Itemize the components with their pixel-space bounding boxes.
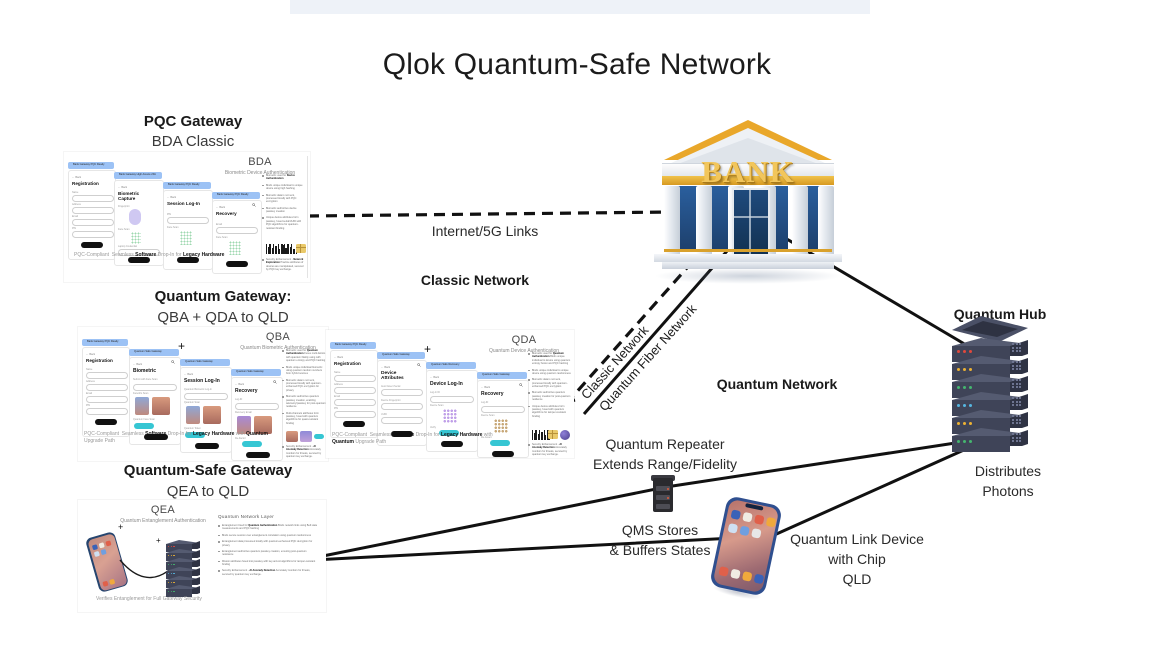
- field-label: Log-In ID: [430, 391, 440, 394]
- field-label: Log-ID: [235, 398, 242, 401]
- qba-gallery-button[interactable]: [314, 434, 324, 439]
- panel-title: Device Attributes: [381, 371, 409, 382]
- panel-pill-registration[interactable]: Bank Gateway PQC Ready: [82, 339, 128, 346]
- field-label: Quantum Scan: [184, 401, 200, 404]
- bullet-item: Biometric authorizes quantum passkey cre…: [532, 391, 572, 401]
- field-input[interactable]: [334, 375, 376, 382]
- bullet-item: Mission attributes fused into passkey wi…: [222, 560, 318, 567]
- label-qms-line2: & Buffers States: [592, 542, 728, 560]
- face-thumb: [186, 406, 200, 424]
- field-label: Face Scan: [167, 226, 178, 229]
- bullet-item: Biometric data is not sent, processed lo…: [532, 378, 572, 388]
- field-input[interactable]: [235, 403, 279, 410]
- card-qba-bullets: Biometric used for Quantum Authenticatio…: [286, 349, 326, 428]
- search-icon: [519, 374, 523, 378]
- field-label: PIN: [72, 227, 76, 230]
- phone-app-icon: [739, 526, 750, 537]
- card-qea-screenshot[interactable]: QEA Quantum Entanglement Authentication …: [78, 500, 326, 612]
- wire-classic-horizontal: [308, 212, 672, 216]
- bank-column-5: [792, 186, 808, 256]
- repeater-slot-3: [656, 504, 670, 509]
- panel-title: Recovery: [235, 388, 258, 394]
- panel-recovery[interactable]: Recovery ← Back Email Face Scan: [212, 200, 262, 274]
- qea-phone-app-icon: [98, 542, 104, 548]
- bullet-item: Biometric used for Quantum Authenticatio…: [532, 352, 572, 366]
- hub-leds-blue: [957, 404, 972, 407]
- bullet-item: Unique device attributes form passkey, f…: [532, 405, 572, 419]
- plus-icon: +: [424, 342, 431, 356]
- phone-app-icon: [766, 517, 777, 528]
- panel-back-link[interactable]: ← Back: [216, 206, 225, 209]
- security-note: Security Enhancement - AI Anomaly Detect…: [286, 445, 326, 459]
- submit-button[interactable]: [95, 419, 117, 425]
- plus-icon: +: [178, 339, 185, 353]
- field-label: Address: [334, 383, 343, 386]
- card-qea-footer: Verifies Entanglement for Full Gateway S…: [84, 596, 214, 603]
- pill-text: Bank Gateway PQC Ready: [168, 183, 199, 186]
- panel-pill-biometric[interactable]: Quantum Safe Gateway: [129, 349, 179, 356]
- panel-title: Device Log-In: [430, 381, 463, 387]
- submit-button[interactable]: [343, 421, 365, 427]
- bullet-item: Entanglement data processed locally with…: [222, 540, 318, 547]
- bullet-item: Binds unique individual biometric using …: [286, 366, 326, 376]
- card-qba-heading-block: QBA Quantum Biometric Authentication: [230, 331, 326, 351]
- field-input[interactable]: [86, 384, 128, 391]
- field-input[interactable]: [381, 389, 423, 396]
- plus-icon: +: [118, 522, 123, 532]
- field-input[interactable]: [72, 207, 114, 214]
- field-input[interactable]: [86, 372, 128, 379]
- bullet-item: Biometric authorizes device passkey crea…: [266, 207, 306, 214]
- bullet-item: Binds unique individual to unique device…: [532, 369, 572, 376]
- field-label: Device Scan: [430, 404, 443, 407]
- card-qba-screenshot[interactable]: QBA Quantum Biometric Authentication + R…: [78, 327, 328, 461]
- panel-registration[interactable]: Registration ← Back Name Address Email P…: [82, 347, 130, 437]
- field-label: Quantum Biometric Log-In: [184, 388, 212, 391]
- card-qea-bullets: Entanglement Used for Quantum Authentica…: [222, 524, 318, 579]
- qea-phone-app-icon: [100, 549, 106, 555]
- phone-app-icon: [730, 509, 741, 520]
- panel-back-link[interactable]: ← Back: [235, 383, 244, 386]
- bank-building[interactable]: BANK: [648, 118, 848, 283]
- panel-title: Recovery: [481, 391, 504, 397]
- label-repeater-line2: Extends Range/Fidelity: [560, 456, 770, 474]
- panel-title: Session Log-In: [184, 378, 220, 384]
- panel-registration[interactable]: Registration ← Back Name Address Email P…: [330, 350, 378, 438]
- label-internet-5g-links: Internet/5G Links: [385, 223, 585, 241]
- panel-pill-device-login[interactable]: Quantum Safe Recovery: [426, 362, 476, 369]
- field-label: PIN: [167, 213, 171, 216]
- face-thumb: [203, 406, 221, 424]
- hub-vents: [1012, 433, 1021, 442]
- sim-chip-icon: [296, 244, 306, 253]
- bullet-item: Security Enhancement - AI Anomaly Detect…: [222, 569, 318, 576]
- field-input[interactable]: [72, 231, 114, 238]
- field-label: PIN: [334, 407, 338, 410]
- label-quantum-network: Quantum Network: [677, 376, 877, 394]
- hub-leds-orange: [957, 422, 972, 425]
- section-subtitle-quantum-safe-gateway: QEA to QLD: [78, 483, 338, 502]
- field-input[interactable]: [184, 393, 228, 400]
- card-qda-footer: PQC-Compliant Seamless Software Drop-In …: [332, 432, 512, 447]
- label-qld-line2: with Chip: [772, 551, 942, 569]
- label-hub-caption-line1: Distributes: [908, 463, 1108, 481]
- face-scan-glyph: [131, 232, 141, 244]
- barcode-icon-2: [284, 244, 297, 254]
- quantum-repeater-device[interactable]: [651, 478, 677, 514]
- field-input[interactable]: [72, 195, 114, 202]
- panel-title: Recovery: [216, 211, 237, 216]
- field-label: Device Scan: [481, 414, 494, 417]
- panel-title: Session Log-In: [167, 201, 200, 206]
- panel-back-link[interactable]: ← Back: [430, 376, 439, 379]
- pill-text: Bank Gateway PQC Ready: [73, 163, 104, 166]
- card-bda-footer: PQC-Compliant Seamless Software Drop-In …: [74, 252, 244, 259]
- field-label: Laptop Credential: [118, 245, 137, 248]
- bank-base-gold-line: [664, 249, 832, 252]
- pill-text: Bank Gateway PQC Ready: [87, 340, 118, 343]
- card-qda-heading-block: QDA Quantum Device Authentication: [476, 334, 572, 354]
- phone-screen: [713, 499, 780, 594]
- phone-app-icon: [754, 514, 765, 525]
- qba-gallery-thumb: [286, 431, 298, 442]
- hub-leds-red: [957, 350, 972, 353]
- qba-gallery-thumb: [300, 431, 312, 442]
- card-qea-heading: QEA: [98, 504, 228, 516]
- field-label: Address: [72, 203, 81, 206]
- qea-phone-app-icon: [91, 544, 97, 550]
- field-input[interactable]: [86, 396, 128, 403]
- device-scan-glyph: [443, 409, 457, 423]
- top-tint-strip: [290, 0, 870, 14]
- bullet-item: Biometric data is not sent, processed lo…: [286, 379, 326, 393]
- label-qld-line3: QLD: [772, 571, 942, 589]
- card-bda-bullets: Biometric used for Device Authentication…: [266, 174, 306, 233]
- panel-pill-session[interactable]: Bank Gateway PQC Ready: [163, 182, 211, 189]
- field-label: UUID: [381, 413, 387, 416]
- hub-leds-yellow: [957, 368, 972, 371]
- panel-registration[interactable]: Registration ← Back Name Address Email P…: [68, 170, 116, 260]
- field-input[interactable]: [167, 217, 209, 224]
- bullet-item: Unique device attributes form passkey, f…: [266, 216, 306, 230]
- field-label: Address: [86, 380, 95, 383]
- hub-unit-6: [952, 428, 1028, 454]
- field-input[interactable]: [481, 406, 525, 413]
- field-label: Quantum Token: [184, 427, 201, 430]
- hub-vents: [1012, 397, 1021, 406]
- field-label: Face Scan: [118, 228, 129, 231]
- bank-column-2: [696, 186, 712, 256]
- bank-sign-text: BANK: [648, 154, 848, 190]
- panel-back-link[interactable]: ← Back: [381, 366, 390, 369]
- phone-app-icon: [718, 566, 729, 577]
- field-input[interactable]: [86, 408, 128, 415]
- pill-text: Bank Gateway PQC Ready: [217, 193, 248, 196]
- page-title: Qlok Quantum-Safe Network: [0, 48, 1154, 82]
- panel-pill-biometric[interactable]: Bank Gateway High Assure 2FA: [114, 172, 162, 179]
- panel-title: Registration: [86, 358, 113, 363]
- pill-text: Quantum Safe Gateway: [482, 373, 510, 376]
- field-label: Email: [334, 395, 340, 398]
- card-bda-screenshot[interactable]: BDA Biometric Device Authentication Regi…: [64, 152, 310, 282]
- section-subtitle-pqc: BDA Classic: [93, 133, 293, 152]
- sim-chip-icon: [548, 430, 558, 439]
- card-qba-heading: QBA: [230, 331, 326, 343]
- card-divider: [307, 156, 308, 278]
- panel-title: Registration: [72, 181, 99, 186]
- pill-text: Quantum Safe Gateway: [134, 350, 162, 353]
- phone-app-icon: [754, 574, 765, 585]
- field-label: Face/Iris Scan: [133, 392, 148, 395]
- phone-app-icon: [751, 528, 762, 539]
- card-bda-heading: BDA: [214, 156, 306, 168]
- bullet-item: Entanglement authorizes quantum passkey …: [222, 550, 318, 557]
- field-input[interactable]: [216, 227, 258, 234]
- hub-unit-face: [952, 436, 1010, 452]
- bullet-item: Biometric used for Quantum Authenticatio…: [286, 349, 326, 363]
- bullet-item: Biometric authorizes quantum passkey cre…: [286, 395, 326, 409]
- phone-app-icon: [742, 512, 753, 523]
- field-input[interactable]: [334, 411, 376, 418]
- search-icon: [171, 351, 175, 355]
- section-title-quantum-safe-gateway: Quantum-Safe Gateway: [78, 462, 338, 481]
- bullet-item: Entanglement Used for Quantum Authentica…: [222, 524, 318, 531]
- card-qda-security-note: Security Enhancement - AI Anomaly Detect…: [532, 443, 572, 458]
- field-label: Recovery Email: [235, 411, 252, 414]
- phone-app-icon: [728, 523, 739, 534]
- panel-recovery[interactable]: Recovery ← Back Log-ID Recovery Email Re…: [231, 377, 283, 461]
- field-label: Submit with Face Scan: [133, 378, 157, 381]
- bank-door-mullion-h: [734, 216, 768, 218]
- pill-text: Quantum Safe Gateway: [185, 360, 213, 363]
- field-input[interactable]: [381, 417, 423, 424]
- phone-app-icon: [742, 571, 753, 582]
- field-label: Face Scan: [216, 236, 227, 239]
- panel-pill-device-attributes[interactable]: Quantum Safe Gateway: [377, 352, 425, 359]
- field-input[interactable]: [334, 399, 376, 406]
- face-thumb: [152, 397, 170, 415]
- field-label: Fingerprint: [118, 205, 129, 208]
- section-title-pqc: PQC Gateway: [93, 113, 293, 132]
- field-label: Verify: [430, 426, 436, 429]
- face-thumb: [135, 397, 149, 415]
- pill-text: Bank Gateway PQC Ready: [335, 343, 366, 346]
- bank-glass-midleft: [710, 186, 730, 252]
- bank-shadow: [654, 268, 842, 284]
- card-qba-security-note: Security Enhancement - AI Anomaly Detect…: [286, 445, 326, 461]
- bullet-item: Biometric data is not sent, processed lo…: [266, 194, 306, 204]
- field-label: Name: [86, 368, 92, 371]
- bullet-item: Binds secure session over entanglement c…: [222, 534, 318, 537]
- field-label: Name: [334, 371, 340, 374]
- pill-text: Quantum Safe Recovery: [431, 363, 459, 366]
- card-qea-right-title: Quantum Network Layer: [218, 514, 274, 519]
- panel-back-link[interactable]: ← Back: [118, 186, 127, 189]
- card-bda-heading-block: BDA Biometric Device Authentication: [214, 156, 306, 176]
- field-input[interactable]: [334, 387, 376, 394]
- field-input[interactable]: [430, 396, 474, 403]
- globe-icon: [560, 430, 570, 440]
- hub-vents: [1012, 361, 1021, 370]
- field-label: Name: [72, 191, 78, 194]
- panel-pill-recovery[interactable]: Bank Gateway PQC Ready: [212, 192, 260, 199]
- bank-door-mullion-v: [749, 190, 751, 258]
- section-subtitle-quantum-gateway: QBA + QDA to QLD: [93, 309, 353, 328]
- pill-text: Quantum Safe Gateway: [382, 353, 410, 356]
- bullet-item: Binds unique individual to unique device…: [266, 184, 306, 191]
- device-scan-glyph: [494, 419, 508, 433]
- panel-pill-recovery[interactable]: Quantum Safe Gateway: [477, 372, 527, 379]
- qea-server-rack-illustration: [166, 540, 206, 598]
- search-icon: [252, 194, 256, 198]
- panel-back-link[interactable]: ← Back: [334, 356, 343, 359]
- label-qms-line1: QMS Stores: [598, 522, 722, 540]
- repeater-led-2: [667, 497, 669, 499]
- submit-button[interactable]: [226, 261, 248, 267]
- submit-button[interactable]: [81, 242, 103, 248]
- hub-vents: [1012, 415, 1021, 424]
- field-input[interactable]: [72, 219, 114, 226]
- diagram-canvas: Qlok Quantum-Safe Network Classic Networ…: [0, 0, 1154, 648]
- field-label: Quantum Face Scan: [133, 418, 155, 421]
- label-repeater-line1: Quantum Repeater: [560, 436, 770, 454]
- fingerprint-thumb: [129, 209, 141, 225]
- card-bda-security-note: Security Enhancement - Network Explorati…: [266, 258, 306, 275]
- field-label: Device Fingerprint: [381, 399, 400, 402]
- field-label: Email: [86, 392, 92, 395]
- field-label: PIN: [86, 404, 90, 407]
- pill-text: Quantum Safe Gateway: [236, 370, 264, 373]
- field-label: Log-ID: [481, 401, 488, 404]
- quantum-hub-server-stack[interactable]: [952, 328, 1046, 450]
- section-title-quantum-gateway: Quantum Gateway:: [93, 288, 353, 307]
- panel-title: Biometric: [133, 368, 156, 374]
- search-icon: [417, 354, 421, 358]
- bank-base-step-2: [662, 262, 834, 269]
- card-qea-heading-block: QEA Quantum Entanglement Authentication: [98, 504, 228, 524]
- bank-base-step-1: [654, 254, 842, 262]
- security-note: Security Enhancement - Network Explorati…: [266, 258, 306, 272]
- field-input[interactable]: [133, 384, 177, 391]
- panel-pill-recovery[interactable]: Quantum Safe Gateway: [231, 369, 281, 376]
- panel-back-link[interactable]: ← Back: [184, 373, 193, 376]
- repeater-led-1: [667, 488, 669, 490]
- search-icon: [273, 371, 277, 375]
- panel-title: Biometric Capture: [118, 191, 148, 201]
- qea-phone-app-icon: [105, 540, 111, 546]
- panel-title: Registration: [334, 361, 361, 366]
- hub-leds-green: [957, 386, 972, 389]
- card-qda-bullets: Biometric used for Quantum Authenticatio…: [532, 352, 572, 421]
- card-qba-footer: PQC-Compliant Seamless Software Drop-In …: [84, 431, 269, 446]
- bullet-item: Biometric used for Device Authentication: [266, 174, 306, 181]
- submit-button[interactable]: [246, 452, 270, 458]
- card-qda-screenshot[interactable]: QDA Quantum Device Authentication + Regi…: [326, 330, 574, 458]
- qea-phone-app-icon: [93, 551, 99, 557]
- quantum-scan-button[interactable]: [134, 423, 154, 429]
- label-classic-network: Classic Network: [375, 272, 575, 290]
- pill-text: Bank Gateway High Assure 2FA: [119, 173, 156, 176]
- label-hub-caption-line2: Photons: [908, 483, 1108, 501]
- face-scan-glyph: [180, 231, 192, 245]
- plus-icon: +: [156, 536, 161, 545]
- field-input[interactable]: [381, 403, 423, 410]
- panel-back-link[interactable]: ← Back: [72, 176, 81, 179]
- security-note: Security Enhancement - AI Anomaly Detect…: [532, 443, 572, 457]
- panel-pill-registration[interactable]: Bank Gateway PQC Ready: [68, 162, 114, 169]
- bank-column-6: [818, 186, 834, 256]
- hub-vents: [1012, 343, 1021, 352]
- field-label: Email: [216, 223, 222, 226]
- bullet-item: Multi-channels attributes form passkey, …: [286, 412, 326, 426]
- panel-back-link[interactable]: ← Back: [167, 196, 176, 199]
- submit-button[interactable]: [492, 451, 514, 457]
- qea-phone-app-icon: [108, 578, 114, 584]
- panel-back-link[interactable]: ← Back: [86, 353, 95, 356]
- field-label: Email: [72, 215, 78, 218]
- phone-app-icon: [730, 569, 741, 580]
- field-label: Auto Detect Serial: [381, 385, 400, 388]
- panel-pill-session[interactable]: Quantum Safe Gateway: [180, 359, 230, 366]
- hub-leds-green-2: [957, 440, 972, 443]
- card-qda-heading: QDA: [476, 334, 572, 346]
- panel-back-link[interactable]: ← Back: [133, 363, 142, 366]
- bank-column-1: [664, 186, 680, 256]
- qea-phone-app-icon: [102, 580, 108, 586]
- hub-vents: [1012, 379, 1021, 388]
- label-qld-line1: Quantum Link Device: [772, 531, 942, 549]
- panel-pill-registration[interactable]: Bank Gateway PQC Ready: [330, 342, 376, 349]
- panel-back-link[interactable]: ← Back: [481, 386, 490, 389]
